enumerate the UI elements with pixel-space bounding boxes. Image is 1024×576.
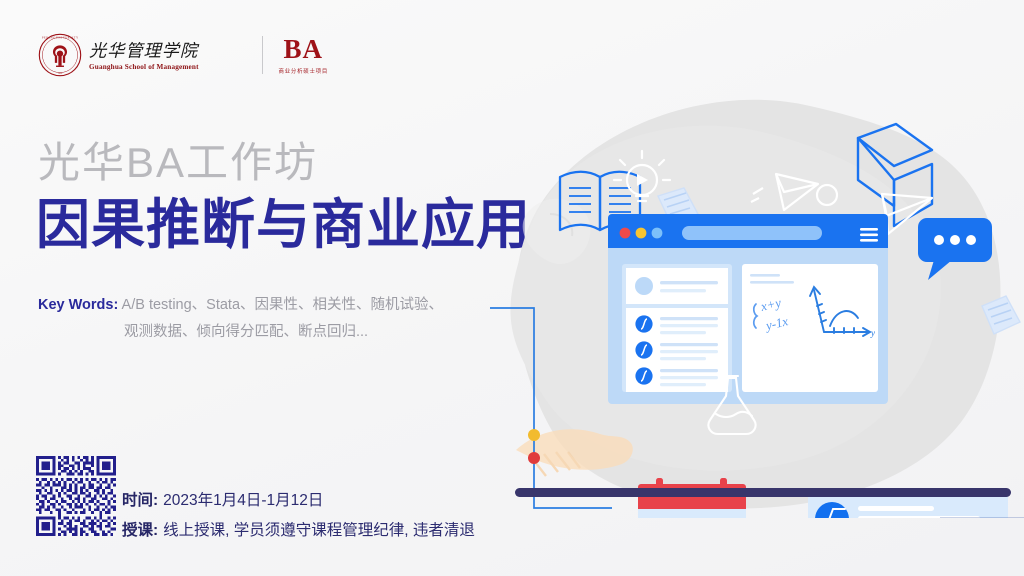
peking-university-seal-icon: P E K I N G U N I V E R S I T Y 1898 <box>38 33 82 77</box>
delivery-value: 线上授课, 学员须遵守课程管理纪律, 违者清退 <box>163 516 475 546</box>
dot-yellow <box>528 429 540 441</box>
guanghua-wordmark: 光华管理学院 Guanghua School of Management <box>89 40 244 71</box>
page-title: 因果推断与商业应用 <box>36 196 531 254</box>
online-learning-illustration: x+y y-1x y <box>470 78 1024 518</box>
traffic-light-red <box>620 228 631 239</box>
guanghua-english-name: Guanghua School of Management <box>89 63 244 71</box>
calendar-icon <box>638 478 746 518</box>
hamburger-menu-icon <box>860 228 878 242</box>
bottom-accent-bar <box>515 488 1011 497</box>
browser-url-bar <box>682 226 822 240</box>
keywords-label: Key Words: <box>38 297 118 313</box>
browser-list-panel <box>622 264 732 392</box>
time-value: 2023年1月4日-1月12日 <box>163 486 323 516</box>
workshop-kicker: 光华BA工作坊 <box>38 142 318 184</box>
ba-program-logo: BA 商业分析硕士项目 <box>279 36 329 75</box>
logo-divider <box>262 36 263 74</box>
whiteboard-panel: x+y y-1x y <box>742 264 878 392</box>
brand-logo-bar: P E K I N G U N I V E R S I T Y 1898 光华管… <box>38 30 328 80</box>
svg-text:y: y <box>870 328 875 338</box>
wechat-qr-code[interactable] <box>36 456 116 536</box>
keywords-line-2: 观测数据、倾向得分匹配、断点回归... <box>38 319 468 346</box>
traffic-light-yellow <box>636 228 647 239</box>
svg-text:1898: 1898 <box>58 73 63 75</box>
ba-program-chinese: 商业分析硕士项目 <box>279 67 329 75</box>
time-label: 时间: <box>122 486 158 516</box>
browser-window: x+y y-1x y <box>608 214 888 404</box>
dot-red <box>528 452 540 464</box>
info-row-time: 时间: 2023年1月4日-1月12日 <box>122 486 475 516</box>
info-row-delivery: 授课: 线上授课, 学员须遵守课程管理纪律, 违者清退 <box>122 516 475 546</box>
poster-canvas: P E K I N G U N I V E R S I T Y 1898 光华管… <box>0 0 1024 576</box>
ba-abbreviation: BA <box>284 36 324 63</box>
avatar <box>635 277 653 295</box>
schedule-info: 时间: 2023年1月4日-1月12日 授课: 线上授课, 学员须遵守课程管理纪… <box>122 486 475 546</box>
traffic-light-green <box>652 228 663 239</box>
svg-text:光华管理学院: 光华管理学院 <box>89 41 200 60</box>
keywords-block: Key Words: A/B testing、Stata、因果性、相关性、随机试… <box>38 292 468 346</box>
svg-text:P E K I N G U N I V E R S I: P E K I N G U N I V E R S I T Y <box>42 37 78 40</box>
keywords-line-1: A/B testing、Stata、因果性、相关性、随机试验、 <box>122 297 443 313</box>
guanghua-chinese-calligraphy: 光华管理学院 <box>89 40 244 60</box>
delivery-label: 授课: <box>122 516 158 546</box>
